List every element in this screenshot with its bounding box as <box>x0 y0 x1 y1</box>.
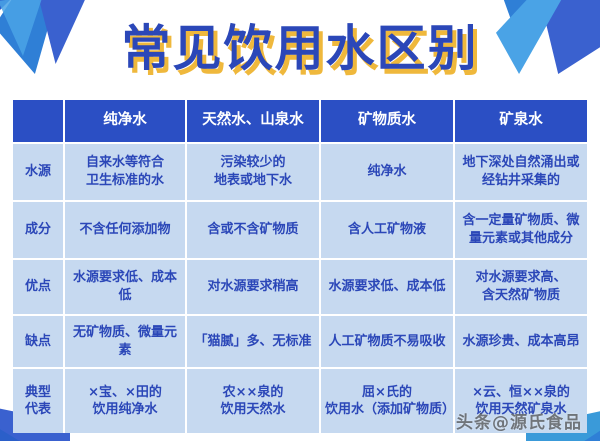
cell-brands-purified: ×宝、×田的饮用纯净水 <box>65 369 187 433</box>
infographic-page: 常见饮用水区别 纯净水 天然水、山泉水 矿物质水 矿泉水 水源 自来水等符合卫生… <box>0 0 600 441</box>
cell-source-purified: 自来水等符合卫生标准的水 <box>65 144 187 202</box>
column-header-mineral-water: 矿泉水 <box>455 100 587 144</box>
column-header-mineralized-water: 矿物质水 <box>321 100 455 144</box>
column-header-purified-water: 纯净水 <box>65 100 187 144</box>
cell-source-mineral: 地下深处自然涌出或经钻井采集的 <box>455 144 587 202</box>
row-label-composition: 成分 <box>13 202 65 260</box>
cell-disadvantages-mineral: 水源珍贵、成本高昂 <box>455 316 587 369</box>
cell-source-natural: 污染较少的地表或地下水 <box>187 144 321 202</box>
cell-composition-mineralized: 含人工矿物液 <box>321 202 455 260</box>
cell-advantages-mineralized: 水源要求低、成本低 <box>321 260 455 317</box>
cell-advantages-purified: 水源要求低、成本低 <box>65 260 187 317</box>
table-row: 典型代表 ×宝、×田的饮用纯净水 农××泉的饮用天然水 屈×氏的饮用水（添加矿物… <box>13 369 587 433</box>
cell-brands-mineral: ×云、恒××泉的饮用天然矿泉水 <box>455 369 587 433</box>
title-bar: 常见饮用水区别 <box>0 0 600 96</box>
cell-advantages-mineral: 对水源要求高、含天然矿物质 <box>455 260 587 317</box>
cell-disadvantages-natural: 「猫腻」多、无标准 <box>187 316 321 369</box>
table-row: 成分 不含任何添加物 含或不含矿物质 含人工矿物液 含一定量矿物质、微量元素或其… <box>13 202 587 260</box>
cell-disadvantages-mineralized: 人工矿物质不易吸收 <box>321 316 455 369</box>
table-header: 纯净水 天然水、山泉水 矿物质水 矿泉水 <box>13 100 587 144</box>
table-row: 水源 自来水等符合卫生标准的水 污染较少的地表或地下水 纯净水 地下深处自然涌出… <box>13 144 587 202</box>
table-row: 优点 水源要求低、成本低 对水源要求稍高 水源要求低、成本低 对水源要求高、含天… <box>13 260 587 317</box>
table-header-row: 纯净水 天然水、山泉水 矿物质水 矿泉水 <box>13 100 587 144</box>
column-header-natural-spring-water: 天然水、山泉水 <box>187 100 321 144</box>
table-corner-cell <box>13 100 65 144</box>
cell-brands-natural: 农××泉的饮用天然水 <box>187 369 321 433</box>
cell-source-mineralized: 纯净水 <box>321 144 455 202</box>
row-label-advantages: 优点 <box>13 260 65 317</box>
row-label-typical-brands: 典型代表 <box>13 369 65 433</box>
cell-composition-purified: 不含任何添加物 <box>65 202 187 260</box>
row-label-disadvantages: 缺点 <box>13 316 65 369</box>
table-body: 水源 自来水等符合卫生标准的水 污染较少的地表或地下水 纯净水 地下深处自然涌出… <box>13 144 587 433</box>
water-comparison-table: 纯净水 天然水、山泉水 矿物质水 矿泉水 水源 自来水等符合卫生标准的水 污染较… <box>13 100 587 433</box>
cell-composition-mineral: 含一定量矿物质、微量元素或其他成分 <box>455 202 587 260</box>
page-title: 常见饮用水区别 <box>121 24 478 73</box>
cell-advantages-natural: 对水源要求稍高 <box>187 260 321 317</box>
cell-composition-natural: 含或不含矿物质 <box>187 202 321 260</box>
table-row: 缺点 无矿物质、微量元素 「猫腻」多、无标准 人工矿物质不易吸收 水源珍贵、成本… <box>13 316 587 369</box>
cell-brands-mineralized: 屈×氏的饮用水（添加矿物质） <box>321 369 455 433</box>
row-label-water-source: 水源 <box>13 144 65 202</box>
cell-disadvantages-purified: 无矿物质、微量元素 <box>65 316 187 369</box>
